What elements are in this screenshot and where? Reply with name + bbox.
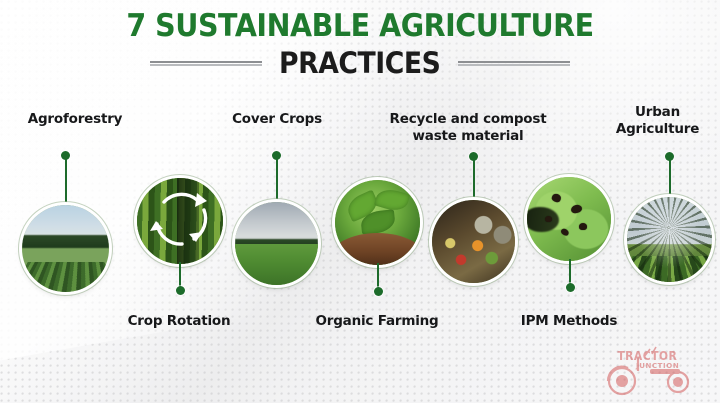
practice-label-ipm: IPM Methods	[494, 313, 644, 330]
crop-rotation-photo[interactable]	[137, 178, 223, 264]
practice-label-organic-farming: Organic Farming	[297, 313, 457, 330]
practice-label-compost: Recycle and compost waste material	[368, 111, 568, 145]
ipm-photo[interactable]	[527, 177, 611, 261]
urban-agriculture-photo[interactable]	[627, 197, 712, 282]
brand-logo[interactable]: TRACTOR JUNCTION	[594, 341, 714, 397]
cover-crops-photo[interactable]	[235, 202, 318, 285]
practice-label-cover-crops: Cover Crops	[202, 111, 352, 128]
infographic-canvas: 7 SUSTAINABLE AGRICULTURE PRACTICES Agro…	[0, 0, 720, 403]
rotation-arrows-icon	[137, 178, 223, 264]
title-rule-right	[458, 60, 570, 67]
compost-photo[interactable]	[432, 200, 515, 283]
connector-stem-agroforestry	[65, 157, 67, 207]
logo-brand: TRACTOR	[617, 349, 677, 363]
title-subrow: PRACTICES	[0, 46, 720, 80]
connector-dot-crop-rotation	[176, 286, 185, 295]
connector-dot-ipm	[566, 283, 575, 292]
connector-stem-urban-agriculture	[669, 158, 671, 200]
agroforestry-photo[interactable]	[22, 205, 109, 292]
practice-label-urban-agriculture: Urban Agriculture	[595, 104, 720, 138]
header: 7 SUSTAINABLE AGRICULTURE PRACTICES	[0, 10, 720, 80]
page-title: 7 SUSTAINABLE AGRICULTURE	[29, 10, 691, 43]
page-subtitle: PRACTICES	[279, 46, 440, 80]
organic-farming-photo[interactable]	[335, 180, 420, 265]
connector-stem-compost	[473, 158, 475, 202]
logo-brand-sub: JUNCTION	[636, 362, 679, 370]
connector-stem-cover-crops	[276, 157, 278, 204]
title-rule-left	[150, 60, 262, 67]
connector-dot-organic-farming	[374, 287, 383, 296]
practice-label-crop-rotation: Crop Rotation	[104, 313, 254, 330]
practice-label-agroforestry: Agroforestry	[0, 111, 150, 128]
